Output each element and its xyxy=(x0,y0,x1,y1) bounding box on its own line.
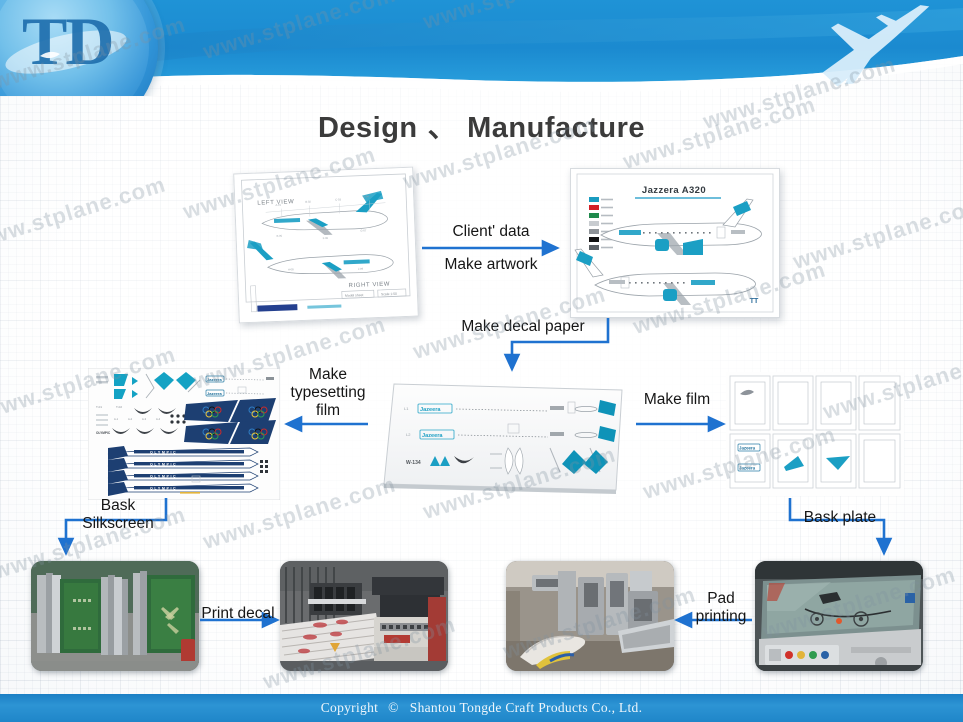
svg-text:Jazeera: Jazeera xyxy=(739,446,756,451)
header-banner: TD xyxy=(0,0,963,96)
svg-text:H-08: H-08 xyxy=(288,267,294,271)
svg-text:A-1: A-1 xyxy=(114,417,119,421)
svg-text:Jazzera A320: Jazzera A320 xyxy=(642,185,706,196)
airplane-icon xyxy=(781,2,951,94)
svg-text:Jazeera: Jazeera xyxy=(422,433,443,439)
svg-text:Model sheet: Model sheet xyxy=(345,293,364,298)
footer-copyright-word: Copyright xyxy=(321,700,378,715)
typesetting-film-card[interactable]: T-01T-02 A-1A-2A-3A-4 OLYMPIC xyxy=(88,368,280,500)
page-title: Design、Manufacture xyxy=(0,104,963,146)
svg-text:F-06: F-06 xyxy=(323,236,329,240)
svg-text:Scale 1:50: Scale 1:50 xyxy=(381,292,397,297)
footer-company-name: Shantou Tongde Craft Products Co., Ltd. xyxy=(410,700,643,715)
film-separation-grid-card[interactable]: Jazeera Jazeera xyxy=(726,372,904,496)
photo-green-silkscreen-frames[interactable] xyxy=(31,561,199,671)
title-part-2: Manufacture xyxy=(467,112,645,144)
label-pad-printing: Pad printing xyxy=(686,590,756,626)
svg-text:TT: TT xyxy=(750,298,759,305)
label-client-data: Client' data xyxy=(424,222,558,241)
label-bask-plate: Bask plate xyxy=(792,508,888,527)
svg-text:T-02: T-02 xyxy=(116,405,122,409)
svg-text:TD: TD xyxy=(22,3,112,79)
svg-text:OLYMPIC: OLYMPIC xyxy=(150,486,177,490)
svg-text:Jazeera: Jazeera xyxy=(739,466,756,471)
svg-text:OLYMPIC: OLYMPIC xyxy=(150,474,177,478)
svg-text:D-04: D-04 xyxy=(363,194,369,198)
copyright-symbol-icon: © xyxy=(388,700,399,715)
aircraft-technical-drawing-image: LEFT VIEW A-01B-02 C-03D-04 E-05F-06G-07 xyxy=(234,168,418,323)
svg-text:W-134: W-134 xyxy=(406,460,421,466)
svg-text:A-3: A-3 xyxy=(142,417,147,421)
footer-copyright: Copyright© Shantou Tongde Craft Products… xyxy=(321,700,643,716)
aircraft-technical-drawing-card[interactable]: LEFT VIEW A-01B-02 C-03D-04 E-05F-06G-07 xyxy=(233,167,419,324)
jazeera-a320-artwork-card[interactable]: Jazzera A320 xyxy=(570,168,780,318)
svg-text:L2: L2 xyxy=(406,432,411,437)
svg-text:L1: L1 xyxy=(404,406,409,411)
svg-text:A-2: A-2 xyxy=(128,417,133,421)
svg-text:A-01: A-01 xyxy=(275,203,281,207)
label-make-decal-paper: Make decal paper xyxy=(438,317,608,336)
title-separator: 、 xyxy=(418,112,468,144)
jazeera-a320-artwork-image: Jazzera A320 xyxy=(571,169,779,317)
svg-text:Jazeera: Jazeera xyxy=(207,391,222,396)
film-separation-grid-image: Jazeera Jazeera xyxy=(726,372,904,496)
svg-text:OLYMPIC: OLYMPIC xyxy=(96,431,111,435)
photo-decal-printing-press[interactable] xyxy=(280,561,448,671)
svg-text:T-01: T-01 xyxy=(96,405,102,409)
label-make-film: Make film xyxy=(632,390,722,409)
photo-plate-exposure-unit[interactable] xyxy=(755,561,923,671)
svg-text:J-09: J-09 xyxy=(358,267,364,271)
label-make-typesetting-film: Make typesetting film xyxy=(286,366,370,420)
label-print-decal: Print decal xyxy=(194,604,282,623)
printed-decal-sheet-image: Jazeera L1 Jazeera L2 xyxy=(378,378,626,498)
title-part-1: Design xyxy=(318,112,418,144)
typesetting-film-image: T-01T-02 A-1A-2A-3A-4 OLYMPIC xyxy=(88,368,280,500)
logo-disc: TD xyxy=(0,0,158,96)
svg-text:E-05: E-05 xyxy=(277,234,283,238)
svg-text:A-4: A-4 xyxy=(156,417,161,421)
slide-canvas: TD Design、Manufacture LEFT VIEW xyxy=(0,0,963,722)
svg-text:Jazeera: Jazeera xyxy=(420,407,441,413)
photo-pad-printing-machine[interactable] xyxy=(506,561,674,671)
label-make-artwork: Make artwork xyxy=(414,255,568,274)
svg-text:OLYMPIC: OLYMPIC xyxy=(150,450,177,454)
svg-text:G-07: G-07 xyxy=(360,228,366,232)
svg-text:B-02: B-02 xyxy=(305,200,311,204)
label-bask-silkscreen: Bask Silkscreen xyxy=(70,497,166,533)
logo-td-mark: TD xyxy=(0,0,158,96)
svg-text:Jazeera: Jazeera xyxy=(207,377,222,382)
svg-text:C-03: C-03 xyxy=(335,197,341,201)
svg-text:OLYMPIC: OLYMPIC xyxy=(150,462,177,466)
printed-decal-sheet-card[interactable]: Jazeera L1 Jazeera L2 xyxy=(378,378,626,498)
footer-bar: Copyright© Shantou Tongde Craft Products… xyxy=(0,694,963,722)
